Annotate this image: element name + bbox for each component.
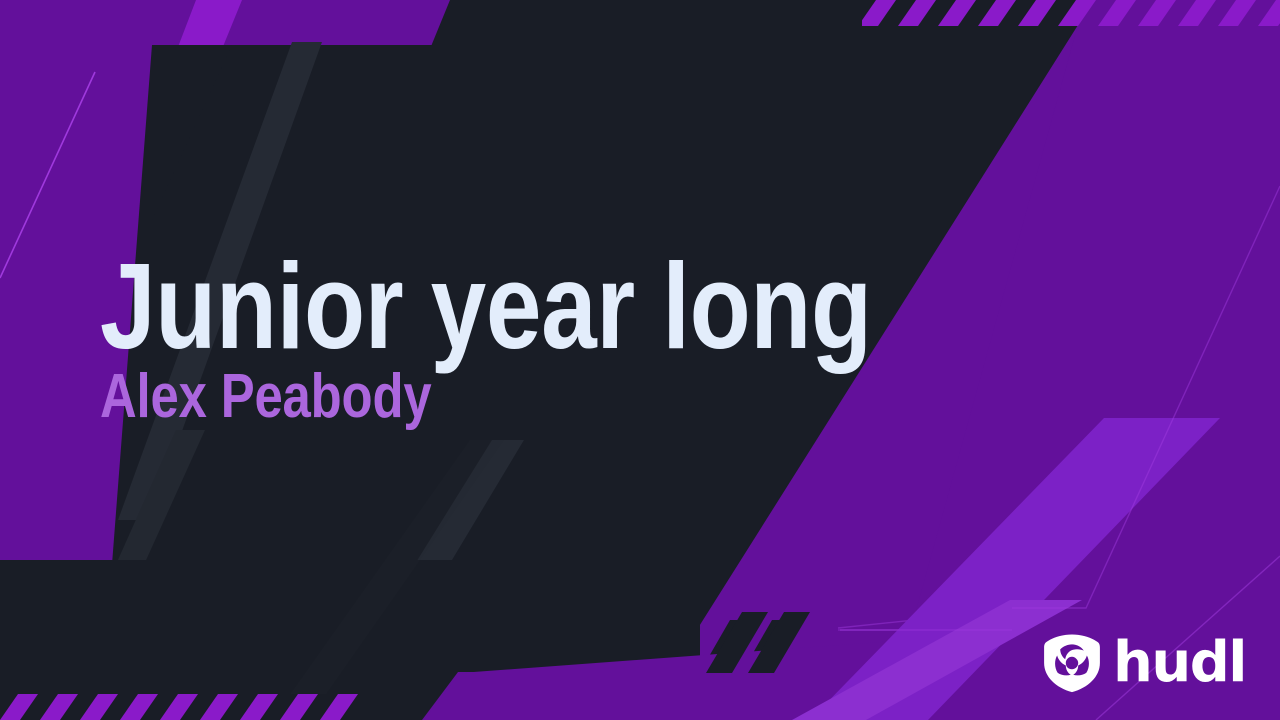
athlete-name: Alex Peabody	[100, 368, 756, 427]
hudl-mark-icon	[1041, 632, 1103, 694]
hudl-wordmark: hudl	[1113, 635, 1246, 691]
hudl-logo: hudl	[1041, 632, 1246, 694]
bottom-left-stripe-band	[0, 694, 420, 720]
page-title: Junior year long	[100, 252, 756, 362]
title-card: Junior year long Alex Peabody hudl	[0, 0, 1280, 720]
title-text-block: Junior year long Alex Peabody	[100, 252, 900, 427]
top-right-stripe-band	[858, 0, 1280, 26]
